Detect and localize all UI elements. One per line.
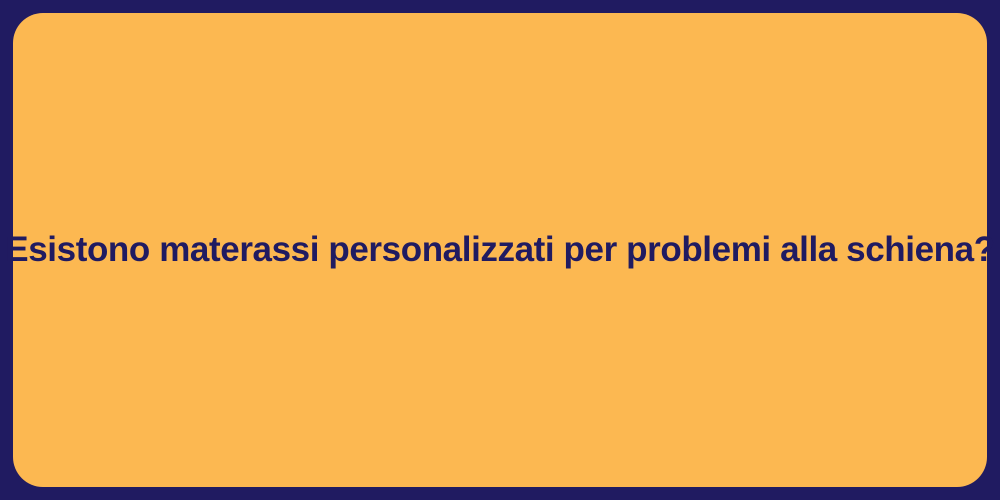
faq-panel: Esistono materassi personalizzati per pr… [13,13,987,487]
faq-question-text: Esistono materassi personalizzati per pr… [5,228,994,272]
faq-card: Esistono materassi personalizzati per pr… [0,0,1000,500]
